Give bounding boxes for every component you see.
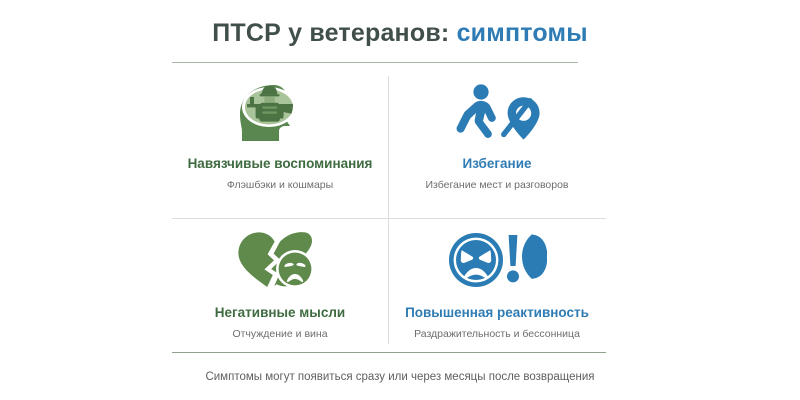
quadrant-subtext: Избегание мест и разговоров <box>425 179 568 192</box>
quadrant-intrusive-memories[interactable]: Навязчивые воспоминания Флэшбэки и кошма… <box>172 76 388 218</box>
quadrant-heading: Избегание <box>462 156 531 172</box>
quadrant-avoidance[interactable]: Избегание Избегание мест и разговоров <box>389 76 605 218</box>
footer-divider-rule <box>172 352 606 353</box>
quadrant-subtext: Раздражительность и бессонница <box>414 328 580 341</box>
quadrant-subtext: Флэшбэки и кошмары <box>227 179 333 192</box>
page-title-accent: симптомы <box>457 19 588 47</box>
title-divider-rule <box>172 62 578 63</box>
footer-note: Симптомы могут появиться сразу или через… <box>0 371 800 383</box>
quadrant-hyperarousal[interactable]: Повышенная реактивность Раздражительност… <box>389 219 605 361</box>
quadrant-subtext: Отчуждение и вина <box>232 328 327 341</box>
quadrant-heading: Навязчивые воспоминания <box>188 156 373 172</box>
quadrant-negative-thoughts[interactable]: Негативные мысли Отчуждение и вина <box>172 219 388 361</box>
quadrant-heading: Повышенная реактивность <box>405 305 589 321</box>
broken-heart-sad-face-icon <box>231 229 329 291</box>
infographic-slide: ПТСР у ветеранов: симптомы <box>0 0 800 400</box>
walking-person-no-location-icon <box>449 82 545 144</box>
head-soldier-memory-icon <box>234 82 326 144</box>
quadrant-heading: Негативные мысли <box>215 305 345 321</box>
page-title-main: ПТСР у ветеранов: <box>212 19 449 47</box>
symptom-grid: Навязчивые воспоминания Флэшбэки и кошма… <box>172 76 606 344</box>
page-title: ПТСР у ветеранов: симптомы <box>0 18 800 48</box>
angry-face-exclamation-moon-icon <box>447 229 547 291</box>
